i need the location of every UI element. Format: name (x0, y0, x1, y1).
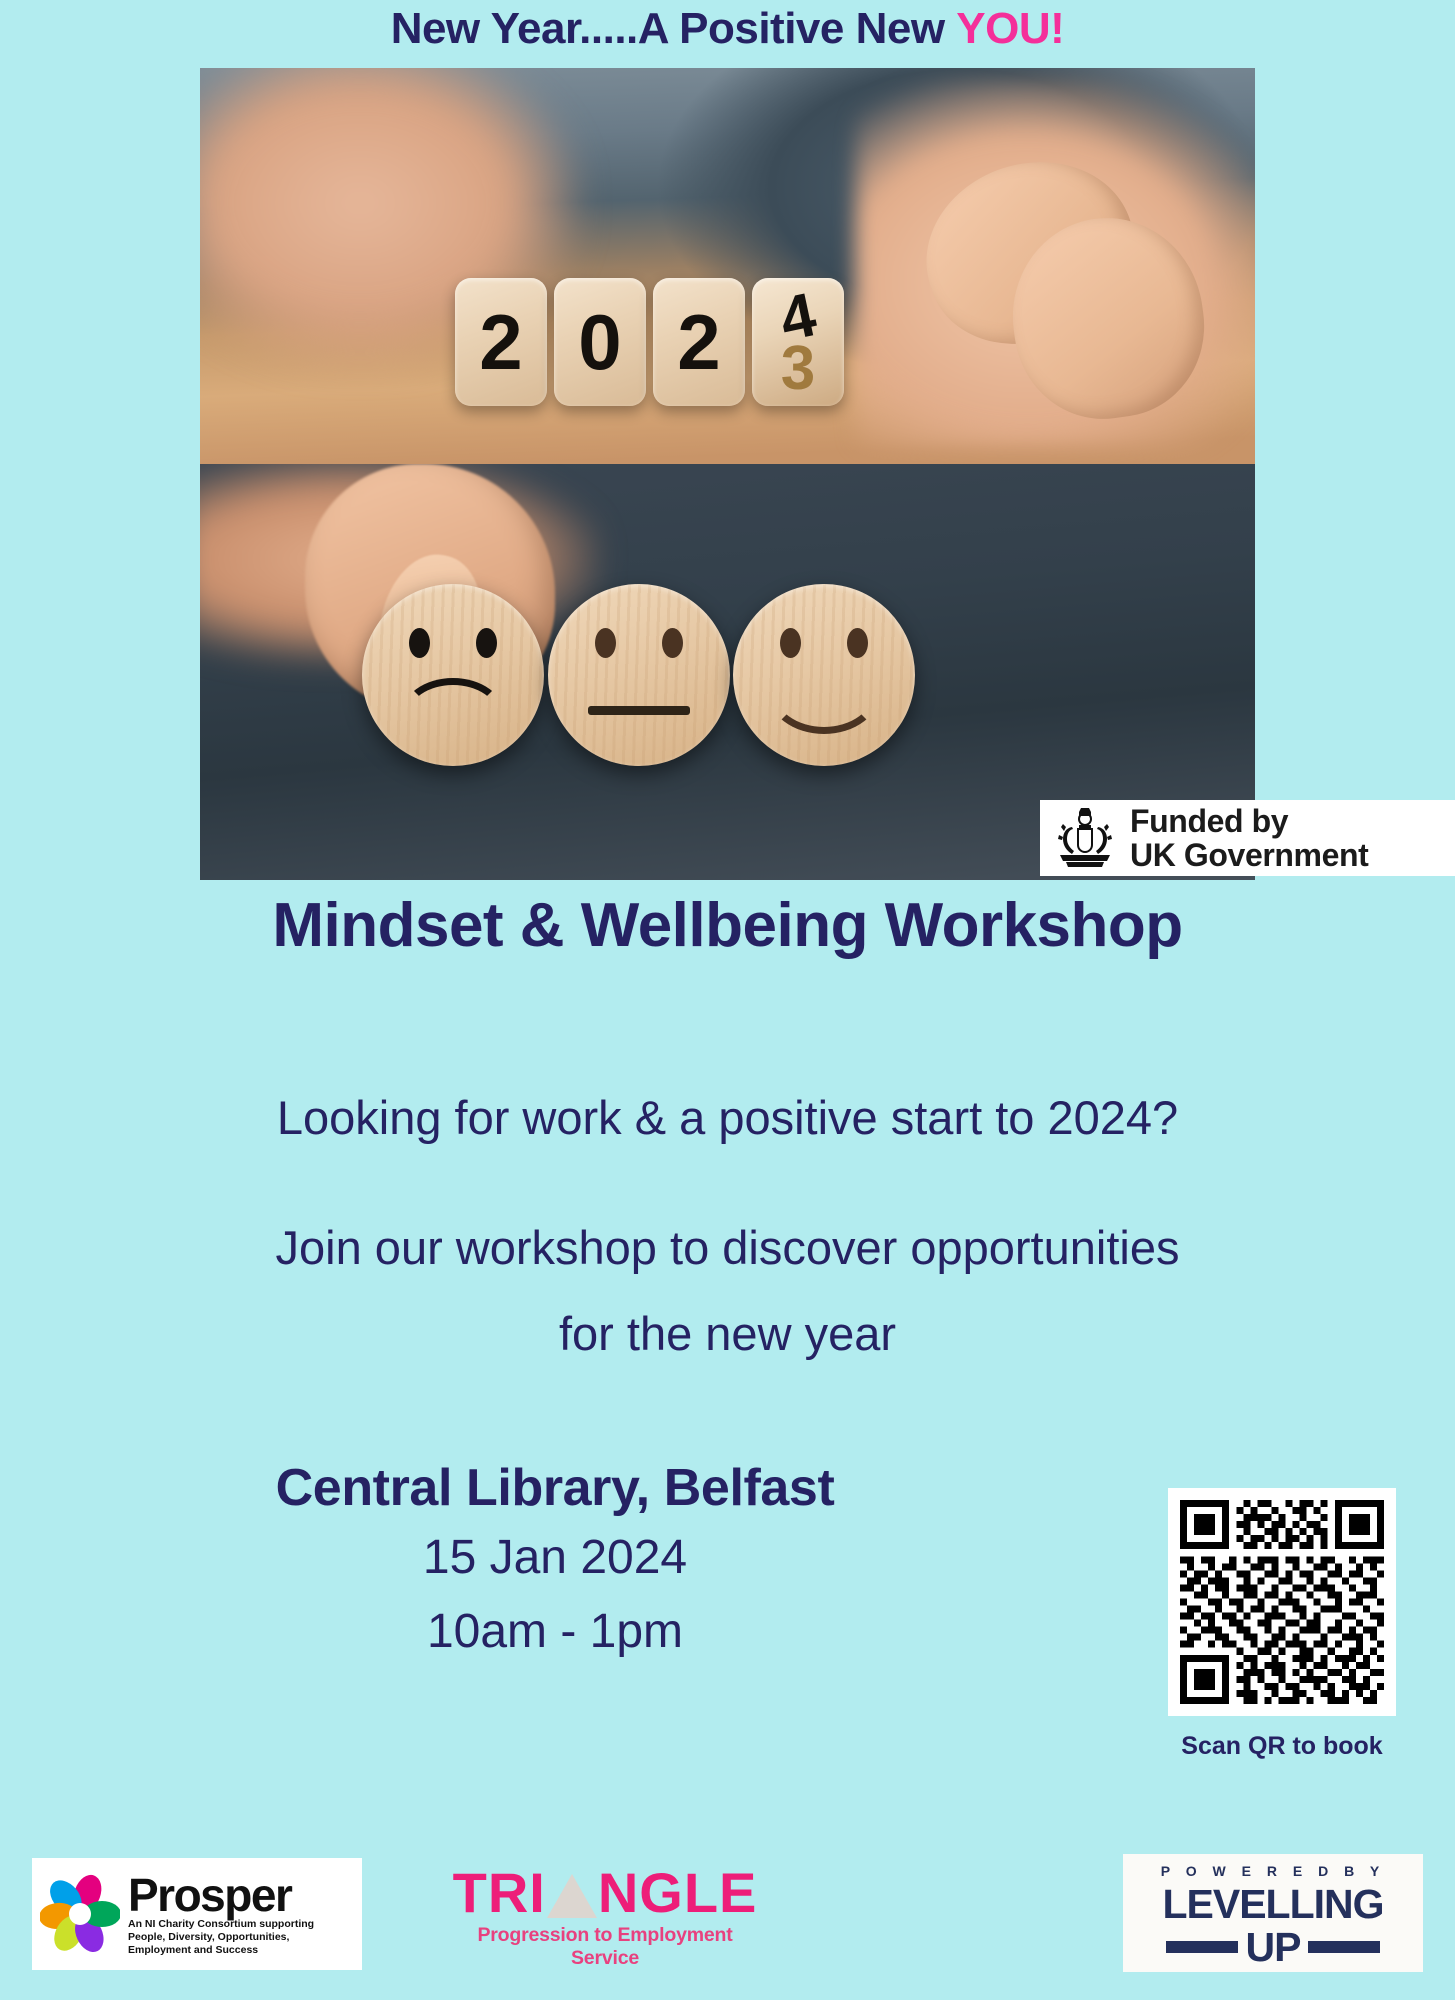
headline-accent-text: YOU! (956, 4, 1064, 53)
levelling-up-row: UP (1166, 1927, 1381, 1967)
sad-face-disc-icon (362, 584, 544, 766)
royal-coat-of-arms-icon (1050, 805, 1120, 871)
funded-by-uk-government-badge: Funded by UK Government (1040, 800, 1455, 876)
event-details: Central Library, Belfast 15 Jan 2024 10a… (40, 1455, 1070, 1669)
triangle-word-part-2: NGLE (598, 1864, 758, 1922)
body-copy: Looking for work & a positive start to 2… (0, 1075, 1455, 1377)
event-venue: Central Library, Belfast (40, 1455, 1070, 1521)
footer-logos: Prosper An NI Charity Consortium support… (0, 1850, 1455, 2000)
levelling-powered-by: P O W E R E D B Y (1161, 1863, 1385, 1879)
levelling-up-logo: P O W E R E D B Y LEVELLING UP (1123, 1854, 1423, 1972)
die-digit-old: 3 (752, 333, 844, 404)
qr-booking-block[interactable]: Scan QR to book (1168, 1488, 1396, 1761)
paragraph-spacer (0, 1161, 1455, 1205)
prosper-name: Prosper (128, 1872, 343, 1918)
eye-icon (409, 628, 430, 658)
prosper-flower-logo-icon (40, 1874, 120, 1954)
prosper-text-block: Prosper An NI Charity Consortium support… (128, 1872, 343, 1957)
qr-caption: Scan QR to book (1168, 1732, 1396, 1761)
qr-code-matrix (1180, 1500, 1384, 1704)
prosper-tagline: An NI Charity Consortium supporting Peop… (128, 1918, 343, 1957)
photo-2024-blocks: 2 0 2 4 3 (200, 68, 1255, 464)
neutral-face-disc-icon (548, 584, 730, 766)
event-time: 10am - 1pm (40, 1595, 1070, 1669)
prosper-logo: Prosper An NI Charity Consortium support… (32, 1858, 362, 1970)
flat-mouth-icon (588, 706, 690, 715)
frown-mouth-icon (401, 678, 505, 754)
die-flipping: 4 3 (752, 278, 844, 406)
die-digit: 2 (653, 278, 745, 406)
die-digit: 2 (455, 278, 547, 406)
event-date: 15 Jan 2024 (40, 1521, 1070, 1595)
levelling-word-2: UP (1246, 1927, 1301, 1967)
triangle-glyph-icon (547, 1874, 597, 1918)
page-title: Mindset & Wellbeing Workshop (0, 890, 1455, 961)
smile-mouth-icon (767, 646, 881, 734)
triangle-wordmark: TRI NGLE (455, 1864, 755, 1922)
rule-left-icon (1166, 1941, 1238, 1953)
body-paragraph-2-line-1: Join our workshop to discover opportunit… (0, 1205, 1455, 1291)
body-paragraph-2-line-2: for the new year (0, 1291, 1455, 1377)
triangle-tagline: Progression to Employment Service (455, 1924, 755, 1970)
triangle-logo: TRI NGLE Progression to Employment Servi… (455, 1864, 755, 1970)
poster-headline: New Year.....A Positive New YOU! (0, 0, 1455, 56)
qr-code-icon[interactable] (1168, 1488, 1396, 1716)
headline-main-text: New Year.....A Positive New (391, 4, 957, 53)
rule-right-icon (1308, 1941, 1380, 1953)
triangle-word-part-1: TRI (453, 1864, 546, 1922)
eye-icon (662, 628, 683, 658)
eye-icon (595, 628, 616, 658)
photo-collage: 2 0 2 4 3 (200, 68, 1255, 880)
die-digit: 0 (554, 278, 646, 406)
funded-line-1: Funded by (1130, 804, 1368, 838)
happy-face-disc-icon (733, 584, 915, 766)
body-paragraph-1: Looking for work & a positive start to 2… (0, 1075, 1455, 1161)
funded-by-text: Funded by UK Government (1130, 804, 1368, 872)
eye-icon (476, 628, 497, 658)
funded-line-2: UK Government (1130, 838, 1368, 872)
dice-row: 2 0 2 4 3 (455, 278, 844, 406)
levelling-word-1: LEVELLING (1162, 1883, 1383, 1925)
